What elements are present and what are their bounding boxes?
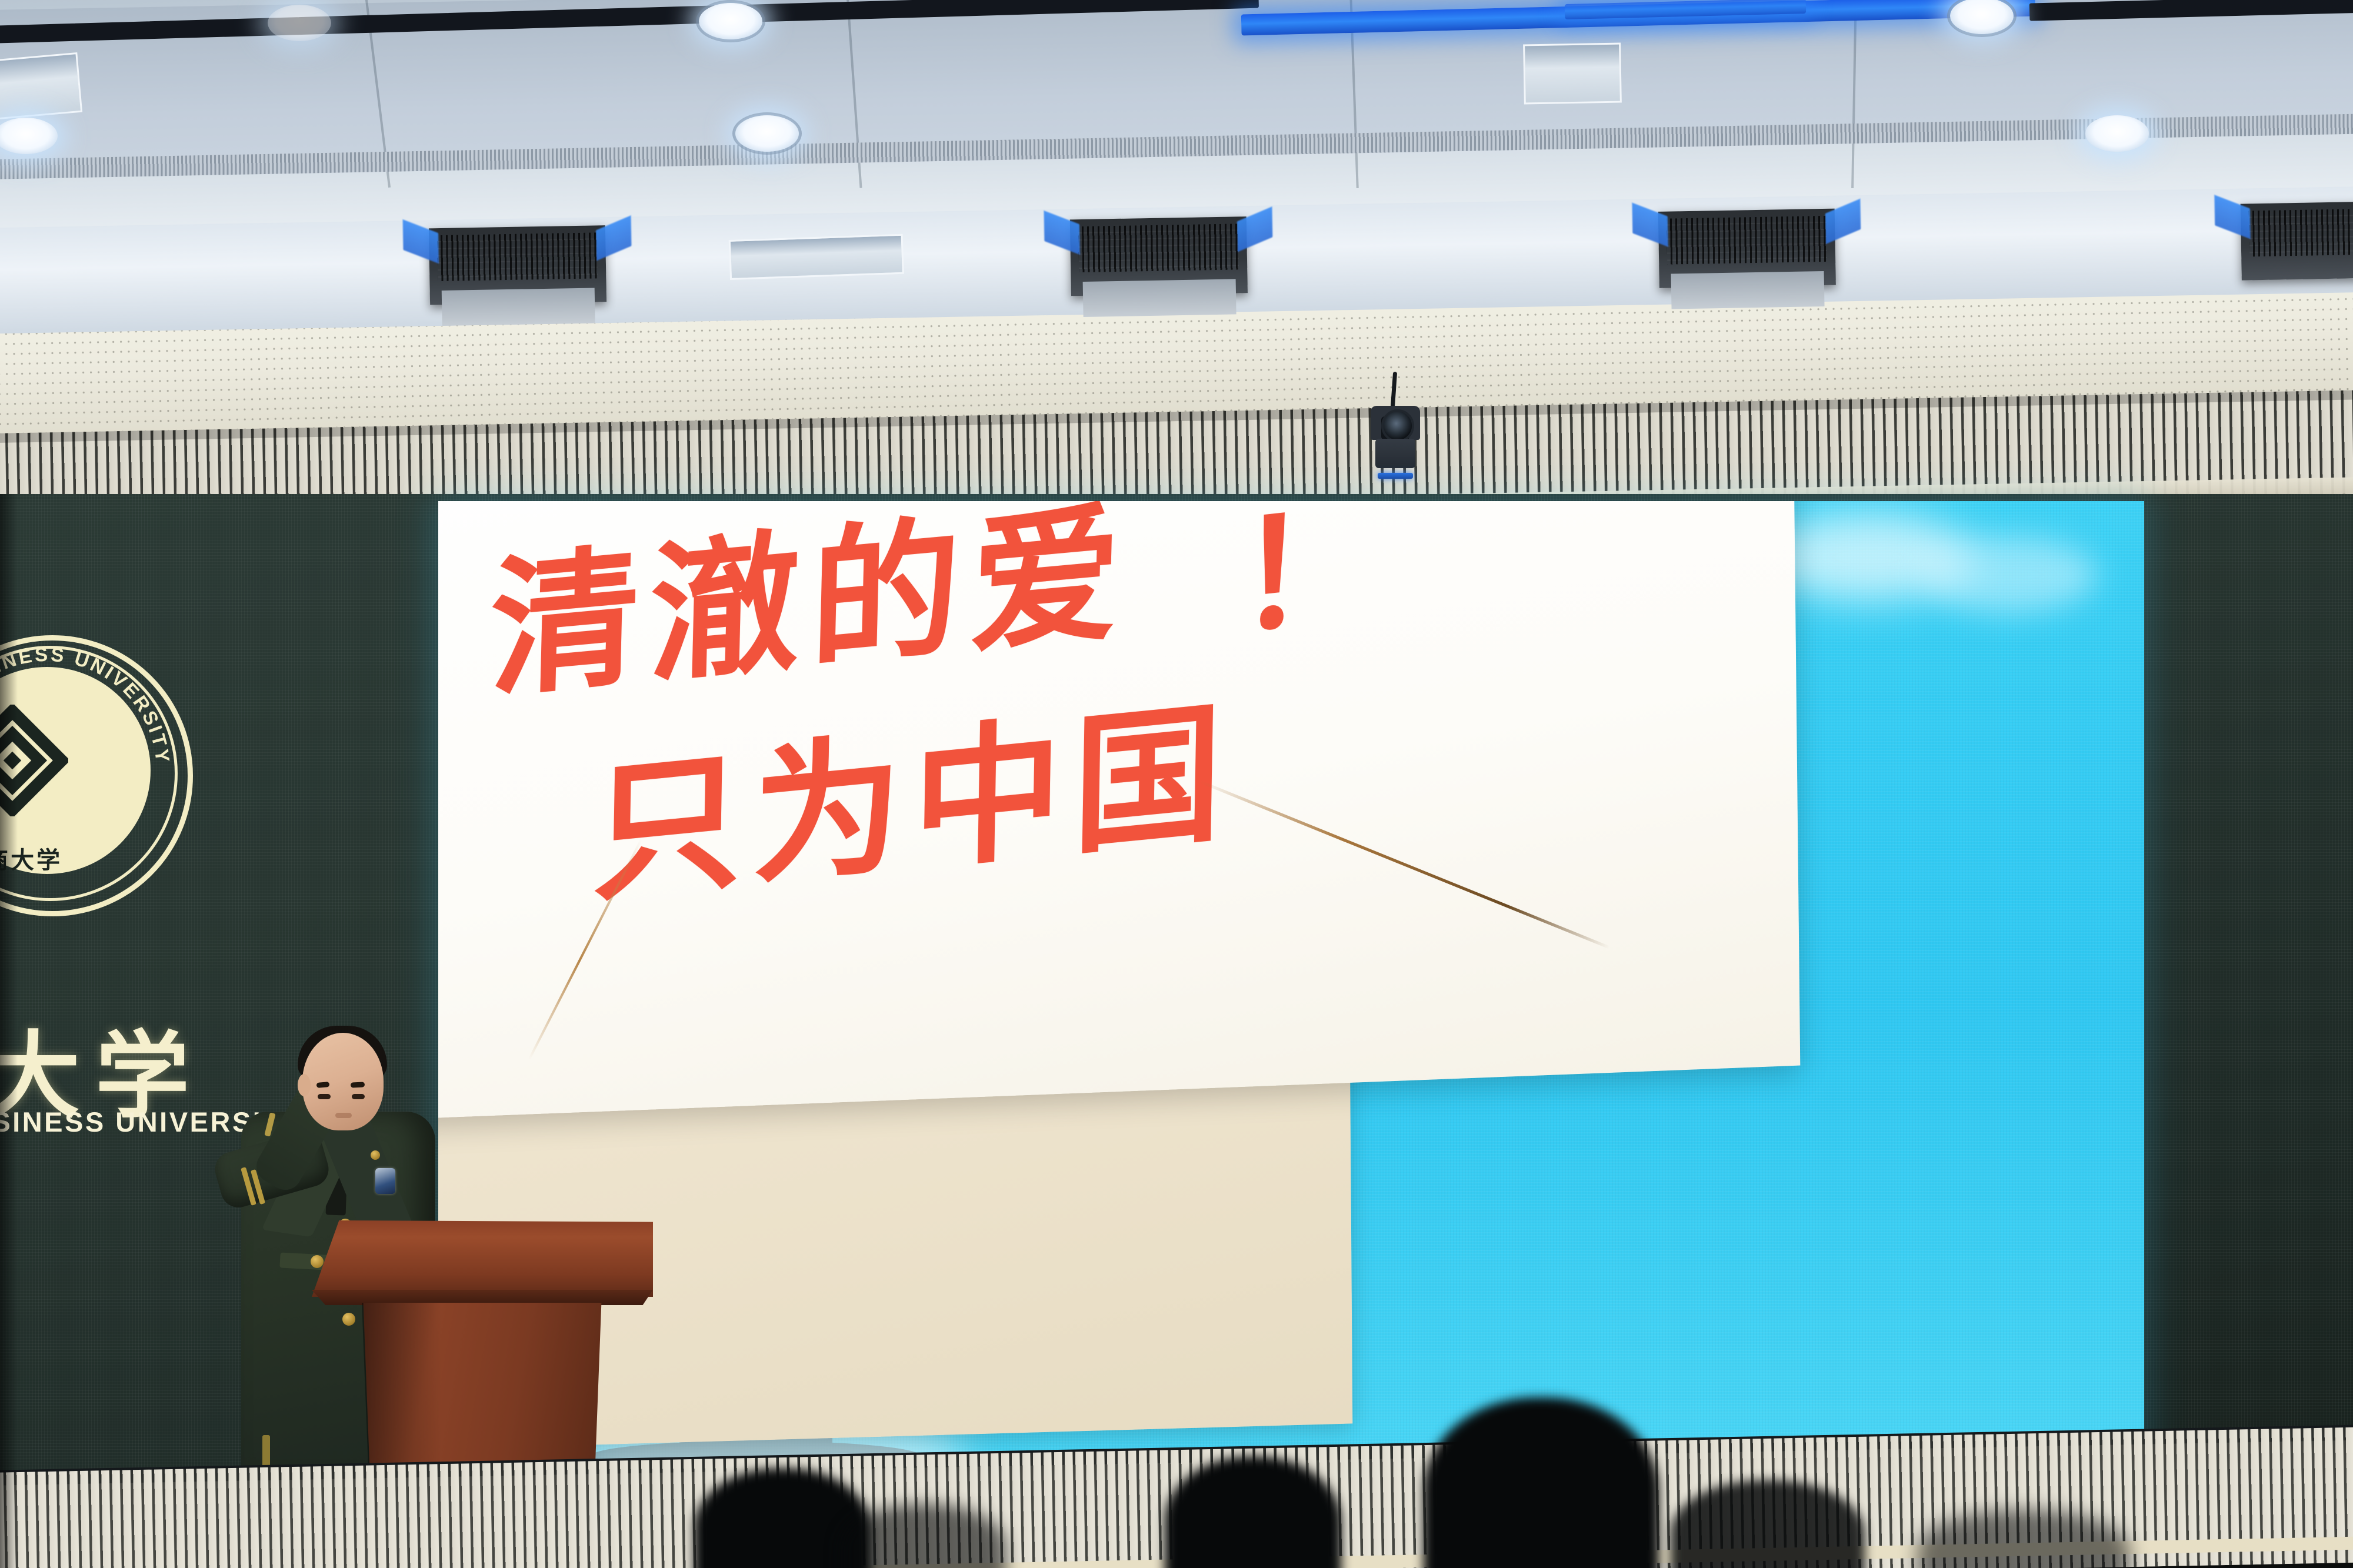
audience-silhouette-3: [1424, 1397, 1659, 1568]
person-mouth: [335, 1113, 352, 1118]
seal-ring-text: D BUSINESS UNIVERSITY: [0, 634, 184, 907]
camera-status-led: [1378, 473, 1413, 479]
person-eye-left: [318, 1094, 331, 1099]
uniform-chest-badge: [375, 1168, 395, 1194]
slide-paper-sheet: 清澈的爱 ！ 只为中国: [438, 501, 1800, 1119]
svg-text:D BUSINESS UNIVERSITY: D BUSINESS UNIVERSITY: [0, 643, 174, 766]
ceiling-downlight-6: [268, 5, 331, 41]
camera-lens-icon: [1381, 409, 1414, 442]
ptz-camera-icon: [1371, 406, 1420, 476]
ceiling-downlight-1: [699, 3, 762, 39]
projected-slide: 清澈的爱 ！ 只为中国: [438, 501, 2144, 1466]
paper-fold-crease: [1198, 780, 1609, 949]
beam-light-panel: [729, 234, 904, 280]
auditorium-scene: 50 商大学 D BUSINESS UNIVERSITY 商大学 ND BUSI…: [0, 0, 2353, 1568]
left-vignette: [0, 494, 18, 1568]
uniform-collar-pin-right: [371, 1150, 380, 1160]
podium-top-surface: [312, 1220, 653, 1297]
ceiling-downlight-4: [735, 115, 799, 152]
person-eyebrow-right: [351, 1082, 365, 1087]
ceiling-downlight-5: [2085, 115, 2149, 152]
person-eye-right: [352, 1094, 365, 1099]
person-ear: [298, 1074, 311, 1096]
ceiling-speaker-4: [2241, 201, 2353, 280]
ceiling-air-vent-right: [1523, 43, 1622, 105]
slide-headline-punctuation: ！: [1234, 501, 1386, 673]
ceiling-air-vent-left: [0, 52, 82, 121]
